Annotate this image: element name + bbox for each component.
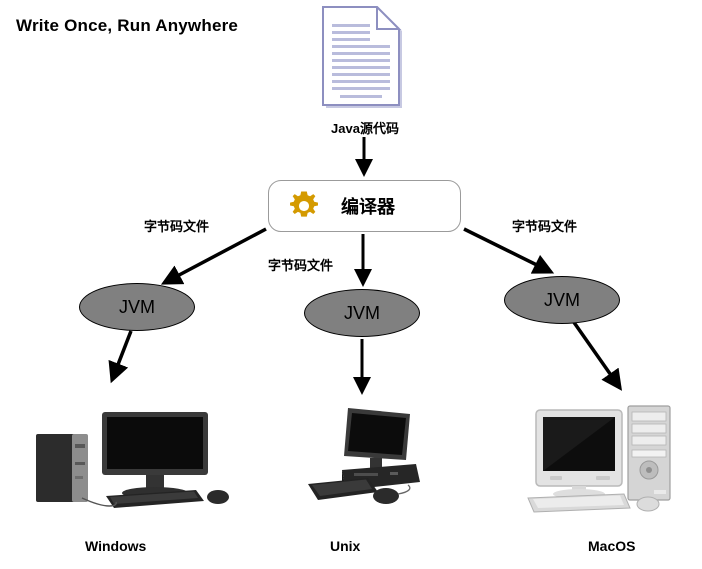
edge-jvm-left-to-windows xyxy=(112,331,131,380)
document-icon xyxy=(322,6,406,112)
edge-compiler-to-jvm-right xyxy=(464,229,551,272)
platform-label-unix: Unix xyxy=(330,538,360,554)
page-title: Write Once, Run Anywhere xyxy=(16,16,238,36)
gear-icon xyxy=(289,191,319,221)
desktop-computer-light-icon xyxy=(520,398,678,518)
desktop-computer-dark-icon xyxy=(28,398,238,518)
compiler-label: 编译器 xyxy=(341,193,395,219)
compiler-node[interactable]: 编译器 xyxy=(268,180,461,232)
source-label: Java源代码 xyxy=(290,118,440,137)
edge-label-bytecode-right: 字节码文件 xyxy=(512,216,577,235)
edge-label-bytecode-mid: 字节码文件 xyxy=(268,255,333,274)
edge-compiler-to-jvm-left xyxy=(164,229,266,283)
edge-jvm-right-to-macos xyxy=(573,321,620,388)
diagram-canvas: Write Once, Run Anywhere Java源代码 编译器 字节码… xyxy=(0,0,702,569)
edge-label-bytecode-left: 字节码文件 xyxy=(144,216,209,235)
jvm-node-unix[interactable]: JVM xyxy=(304,289,420,337)
jvm-node-windows[interactable]: JVM xyxy=(79,283,195,331)
jvm-node-macos[interactable]: JVM xyxy=(504,276,620,324)
platform-label-macos: MacOS xyxy=(588,538,635,554)
desktop-computer-dark-icon xyxy=(294,402,434,514)
platform-label-windows: Windows xyxy=(85,538,146,554)
